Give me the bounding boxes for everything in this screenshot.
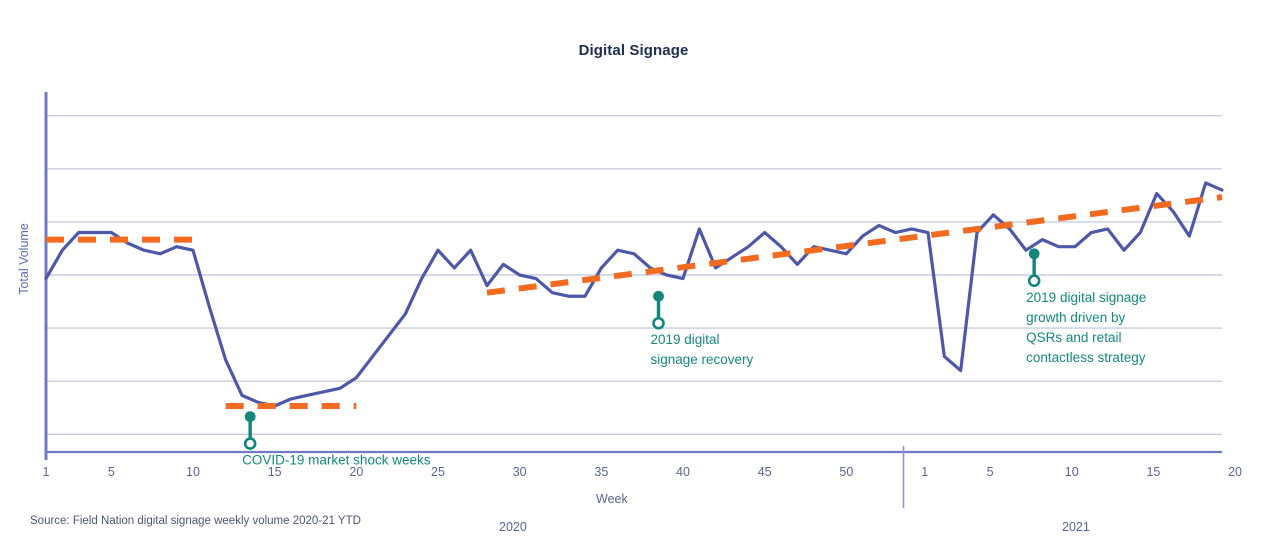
annotation-text-line: 2019 digital signage xyxy=(1026,290,1146,305)
annotation-text-line: contactless strategy xyxy=(1026,350,1146,365)
x-tick-label-2020-1: 1 xyxy=(43,465,50,479)
annotation-dot-filled-icon xyxy=(245,411,256,422)
annotation-qsr-growth: 2019 digital signagegrowth driven byQSRs… xyxy=(1026,248,1146,364)
line-chart-plot: 1510152025303540455015101520COVID-19 mar… xyxy=(0,0,1267,553)
annotation-dot-filled-icon xyxy=(1029,248,1040,259)
annotation-text-line: QSRs and retail xyxy=(1026,330,1121,345)
annotation-text-line: signage recovery xyxy=(651,352,754,367)
annotation-covid-shock: COVID-19 market shock weeks xyxy=(242,411,431,467)
x-tick-label-2020-10: 10 xyxy=(186,465,200,479)
annotation-dot-hollow-icon xyxy=(245,439,255,449)
annotation-dot-hollow-icon xyxy=(1029,276,1039,286)
x-tick-label-2020-35: 35 xyxy=(594,465,608,479)
annotation-recovery-2019: 2019 digitalsignage recovery xyxy=(651,291,754,367)
x-tick-label-2021-10: 10 xyxy=(1065,465,1079,479)
annotation-text-line: COVID-19 market shock weeks xyxy=(242,453,431,468)
annotation-dot-hollow-icon xyxy=(654,318,664,328)
x-tick-label-2020-40: 40 xyxy=(676,465,690,479)
x-tick-label-2020-5: 5 xyxy=(108,465,115,479)
x-tick-label-2020-25: 25 xyxy=(431,465,445,479)
x-tick-label-2020-30: 30 xyxy=(513,465,527,479)
x-tick-label-2020-45: 45 xyxy=(758,465,772,479)
x-tick-label-2021-1: 1 xyxy=(921,465,928,479)
annotation-text-line: growth driven by xyxy=(1026,310,1125,325)
chart-container: Digital Signage Total Volume Week 2020 2… xyxy=(0,0,1267,553)
x-tick-label-2020-50: 50 xyxy=(839,465,853,479)
x-tick-label-2021-5: 5 xyxy=(987,465,994,479)
x-tick-label-2021-15: 15 xyxy=(1146,465,1160,479)
annotation-dot-filled-icon xyxy=(653,291,664,302)
annotation-text-line: 2019 digital xyxy=(651,332,720,347)
x-tick-label-2021-20: 20 xyxy=(1228,465,1242,479)
